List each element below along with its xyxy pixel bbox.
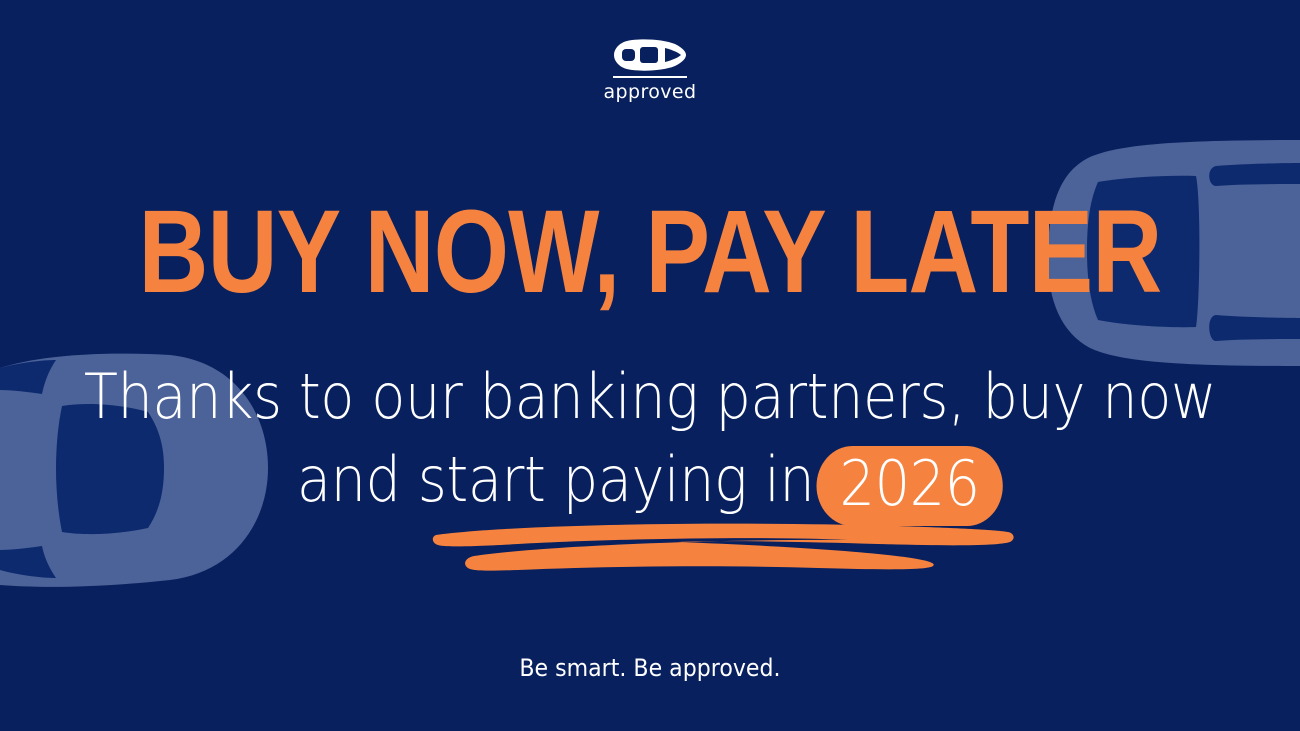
tagline-text: Be smart. Be approved. — [519, 654, 780, 682]
car-top-view-icon — [613, 38, 687, 72]
logo-wordmark: approved — [604, 83, 697, 102]
tagline: Be smart. Be approved. — [0, 654, 1300, 682]
brand-logo: approved — [0, 38, 1300, 102]
logo-divider — [613, 76, 687, 78]
page-title: BUY NOW, PAY LATER — [117, 193, 1183, 311]
promo-banner: approved BUY NOW, PAY LATER Thanks to ou… — [0, 0, 1300, 731]
subheading-line-2-prefix: and start paying in — [297, 443, 814, 516]
hand-drawn-underline-icon — [428, 512, 1018, 578]
subheading-line-1: Thanks to our banking partners, buy now — [65, 355, 1235, 438]
subheading: Thanks to our banking partners, buy now … — [0, 355, 1300, 526]
